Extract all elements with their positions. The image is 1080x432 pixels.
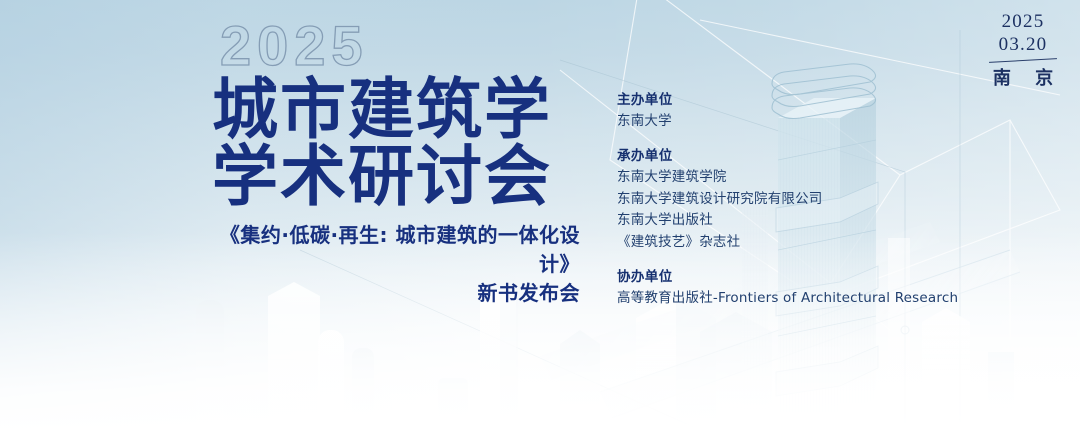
date-month-day: 03.20 (980, 33, 1066, 56)
title-line-2: 学术研讨会 (212, 143, 580, 210)
year-outline-text: 2025 (220, 18, 580, 74)
page-title: 城市建筑学 学术研讨会 (212, 76, 580, 211)
organizer-item: 东南大学出版社 (617, 210, 958, 232)
date-year: 2025 (980, 10, 1066, 33)
organizer-group-coorganizer: 承办单位 东南大学建筑学院 东南大学建筑设计研究院有限公司 东南大学出版社 《建… (617, 146, 958, 254)
organizer-item: 东南大学建筑设计研究院有限公司 (617, 189, 958, 211)
organizer-group-supporter: 协办单位 高等教育出版社-Frontiers of Architectural … (617, 267, 958, 310)
organizer-group-host: 主办单位 东南大学 (617, 90, 958, 133)
organizer-item: 《建筑技艺》杂志社 (617, 232, 958, 254)
title-block: 2025 城市建筑学 学术研讨会 《集约·低碳·再生: 城市建筑的一体化设计》 … (212, 18, 580, 308)
conference-poster: 2025 城市建筑学 学术研讨会 《集约·低碳·再生: 城市建筑的一体化设计》 … (0, 0, 1080, 432)
title-line-1: 城市建筑学 (212, 76, 580, 143)
organizer-item: 东南大学 (617, 111, 958, 133)
organizer-item: 高等教育出版社-Frontiers of Architectural Resea… (617, 288, 958, 310)
organizer-block: 主办单位 东南大学 承办单位 东南大学建筑学院 东南大学建筑设计研究院有限公司 … (617, 90, 958, 310)
organizer-heading-coorganizer: 承办单位 (617, 146, 958, 167)
organizer-item: 东南大学建筑学院 (617, 167, 958, 189)
subtitle-line-1: 《集约·低碳·再生: 城市建筑的一体化设计》 (220, 223, 580, 276)
date-divider (989, 58, 1057, 63)
subtitle: 《集约·低碳·再生: 城市建筑的一体化设计》 新书发布会 (212, 221, 580, 308)
organizer-heading-supporter: 协办单位 (617, 267, 958, 288)
subtitle-line-2: 新书发布会 (212, 279, 580, 308)
city-label: 南 京 (980, 64, 1066, 90)
date-location-block: 2025 03.20 南 京 (980, 10, 1066, 90)
organizer-heading-host: 主办单位 (617, 90, 958, 111)
